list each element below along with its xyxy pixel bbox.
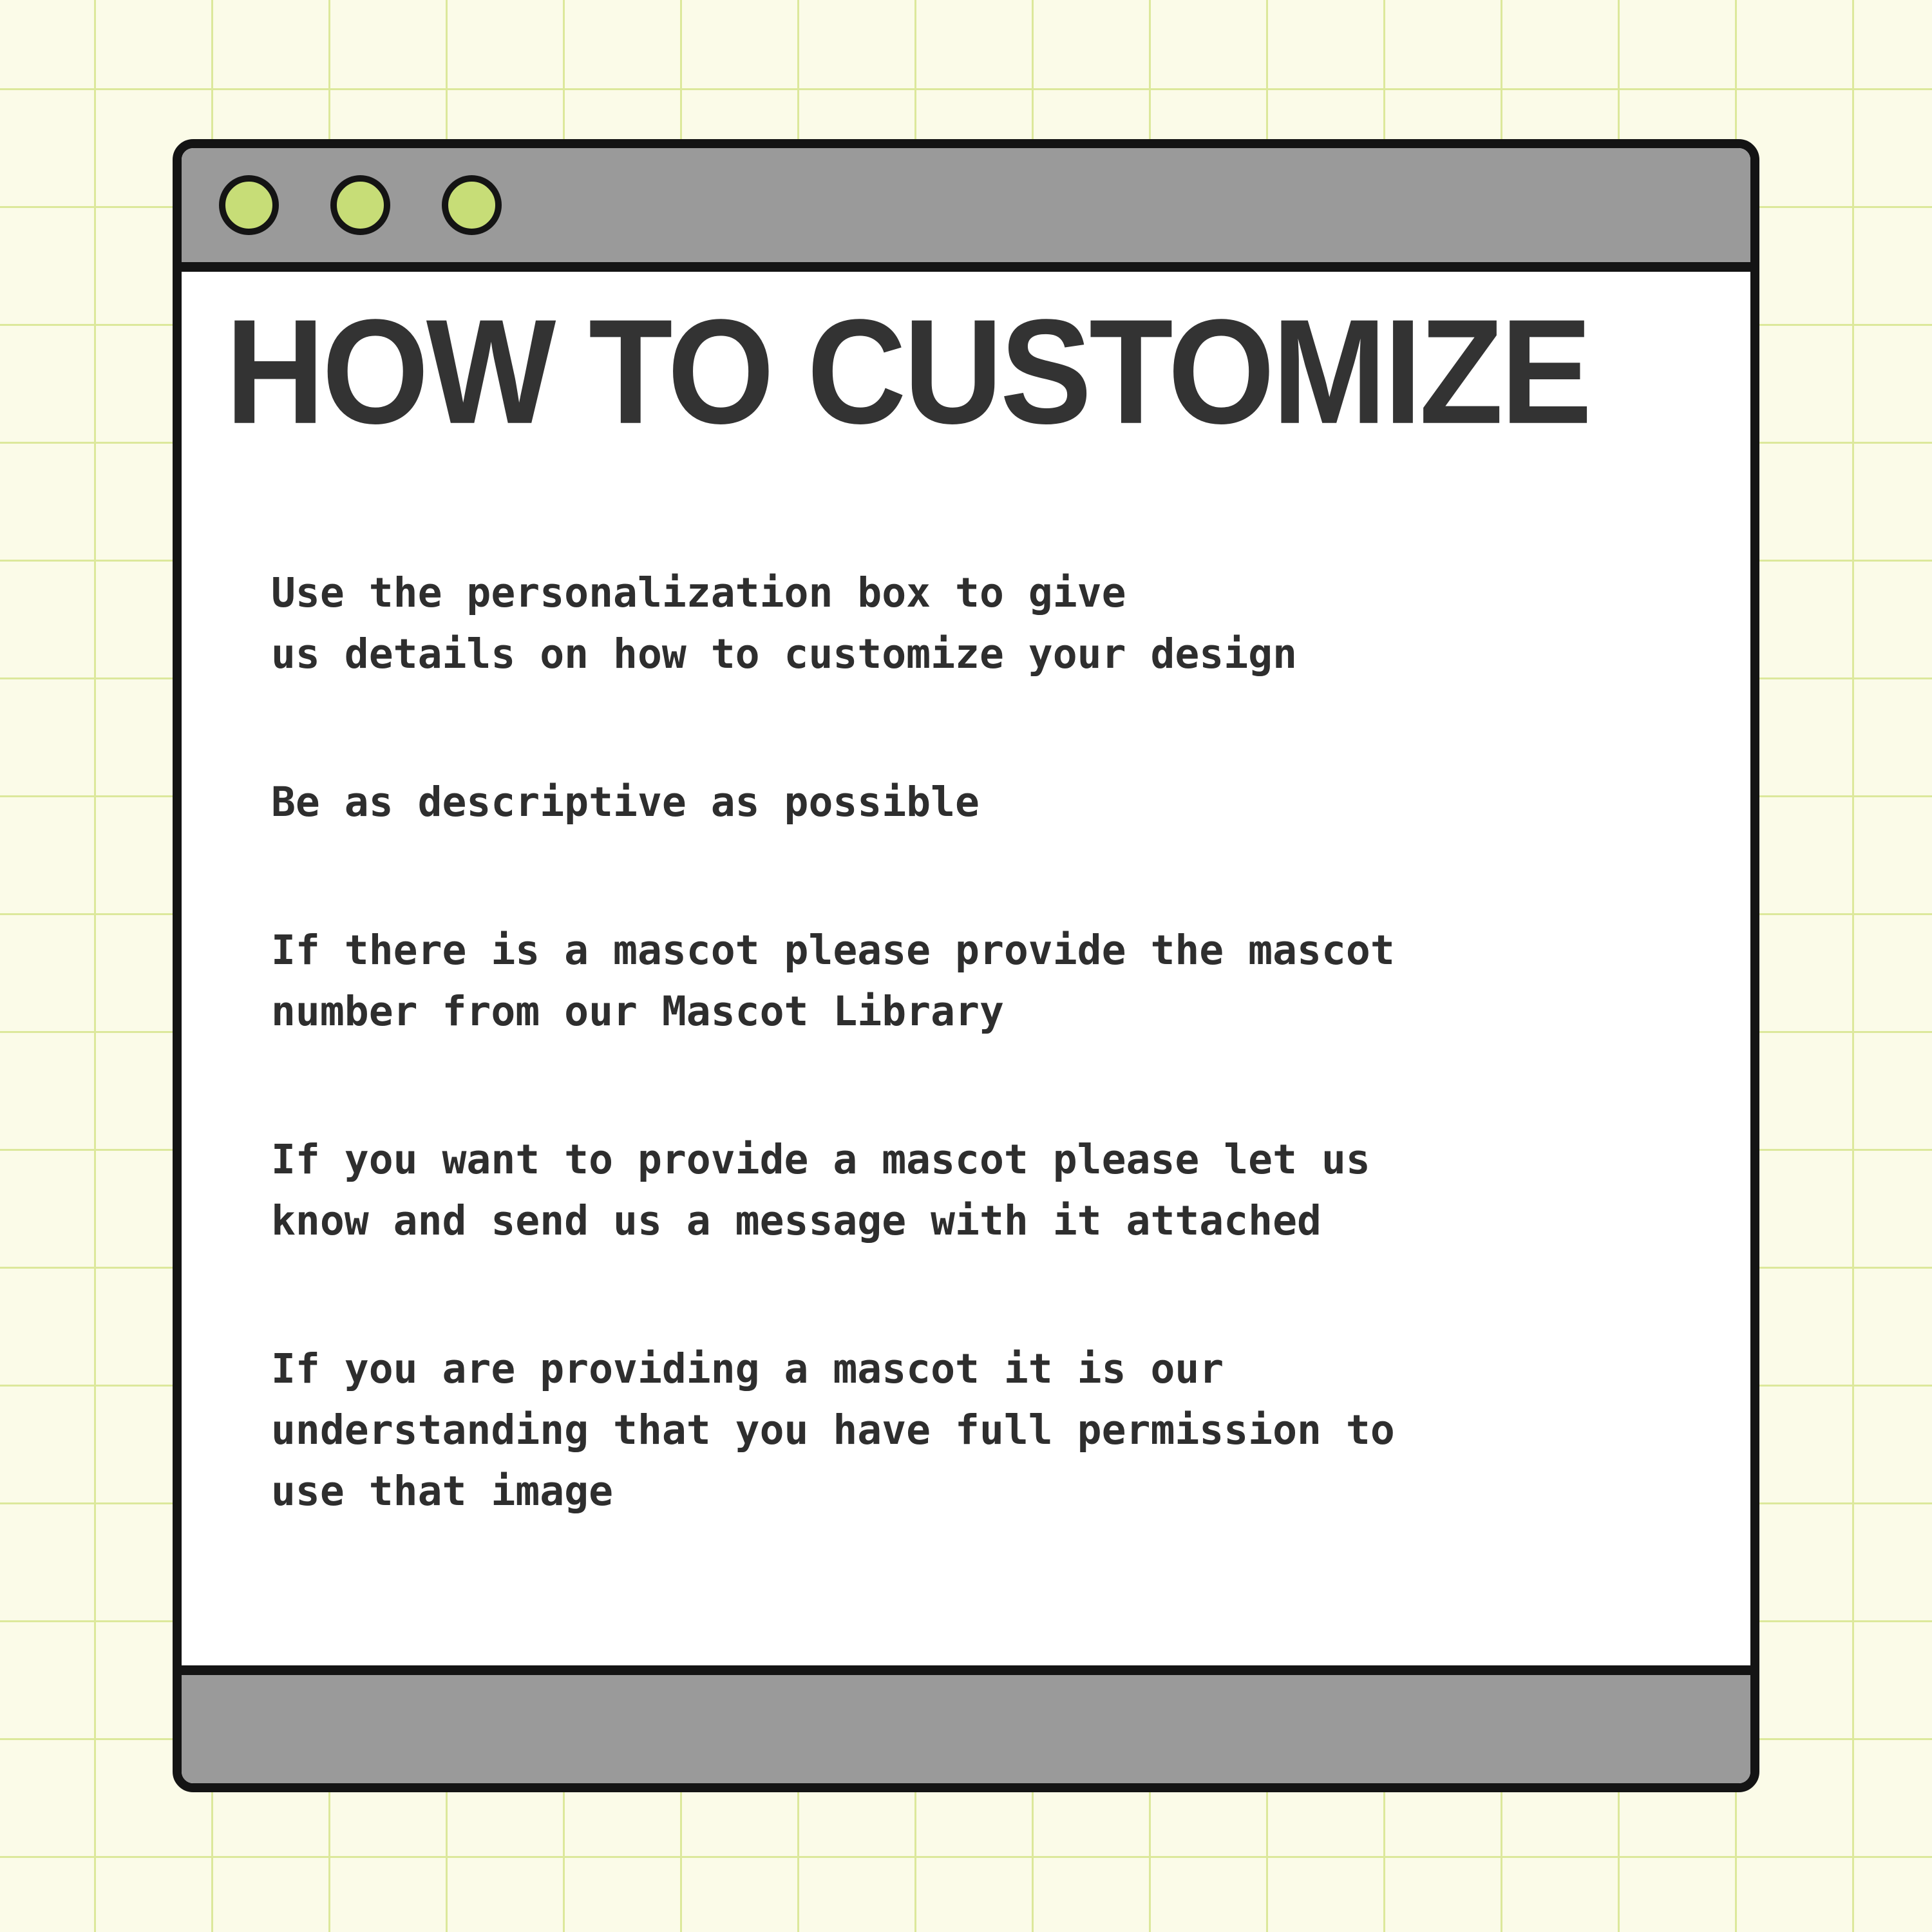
instruction-line: If you want to provide a mascot please l…: [271, 1129, 1712, 1190]
window-content: HOW TO CUSTOMIZE Use the personalization…: [182, 272, 1750, 1665]
instruction-line: number from our Mascot Library: [271, 981, 1712, 1042]
instruction-paragraph: If you want to provide a mascot please l…: [271, 1129, 1712, 1251]
instruction-line: Use the personalization box to give: [271, 562, 1712, 623]
instruction-line: understanding that you have full permiss…: [271, 1399, 1712, 1461]
window-button-1-icon[interactable]: [219, 175, 279, 235]
instruction-paragraph: If you are providing a mascot it is our …: [271, 1338, 1712, 1522]
instruction-line: If you are providing a mascot it is our: [271, 1338, 1712, 1399]
window-titlebar: [182, 148, 1750, 272]
page-title: HOW TO CUSTOMIZE: [225, 298, 1750, 446]
window-bottombar: [182, 1665, 1750, 1783]
instruction-paragraph: Be as descriptive as possible: [271, 772, 1712, 833]
instruction-paragraph: Use the personalization box to give us d…: [271, 562, 1712, 685]
instruction-paragraph: If there is a mascot please provide the …: [271, 920, 1712, 1042]
window-button-2-icon[interactable]: [330, 175, 390, 235]
page-background: HOW TO CUSTOMIZE Use the personalization…: [0, 0, 1932, 1932]
instruction-line: If there is a mascot please provide the …: [271, 920, 1712, 981]
instructions-list: Use the personalization box to give us d…: [271, 562, 1712, 1522]
instruction-line: know and send us a message with it attac…: [271, 1190, 1712, 1251]
retro-window: HOW TO CUSTOMIZE Use the personalization…: [173, 139, 1759, 1792]
window-button-3-icon[interactable]: [442, 175, 502, 235]
instruction-line: use that image: [271, 1461, 1712, 1522]
instruction-line: us details on how to customize your desi…: [271, 623, 1712, 685]
instruction-line: Be as descriptive as possible: [271, 772, 1712, 833]
